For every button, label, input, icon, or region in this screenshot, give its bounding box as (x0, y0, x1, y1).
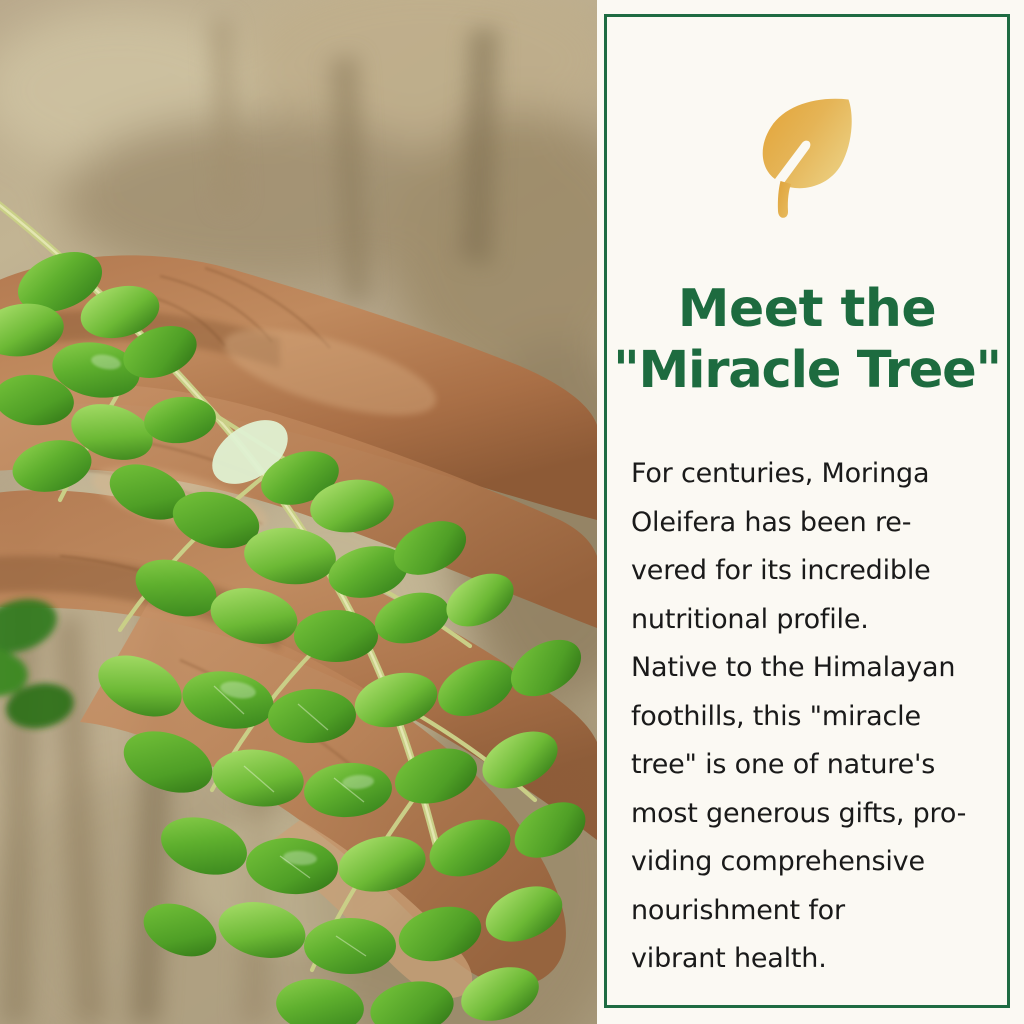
page-title: Meet the "Miracle Tree" (607, 278, 1007, 402)
moringa-photo (0, 0, 597, 1024)
photo-illustration (0, 0, 597, 1024)
headline-line-1: Meet the (607, 278, 1007, 340)
leaf-icon (755, 93, 859, 219)
leaf-icon-glyph (755, 93, 859, 219)
headline-line-2: "Miracle Tree" (607, 340, 1007, 402)
content-card: Meet the "Miracle Tree" For centuries, M… (604, 14, 1010, 1008)
body-paragraph: For centuries, Moringa Oleifera has been… (631, 450, 1009, 984)
poster-canvas: Meet the "Miracle Tree" For centuries, M… (0, 0, 1024, 1024)
